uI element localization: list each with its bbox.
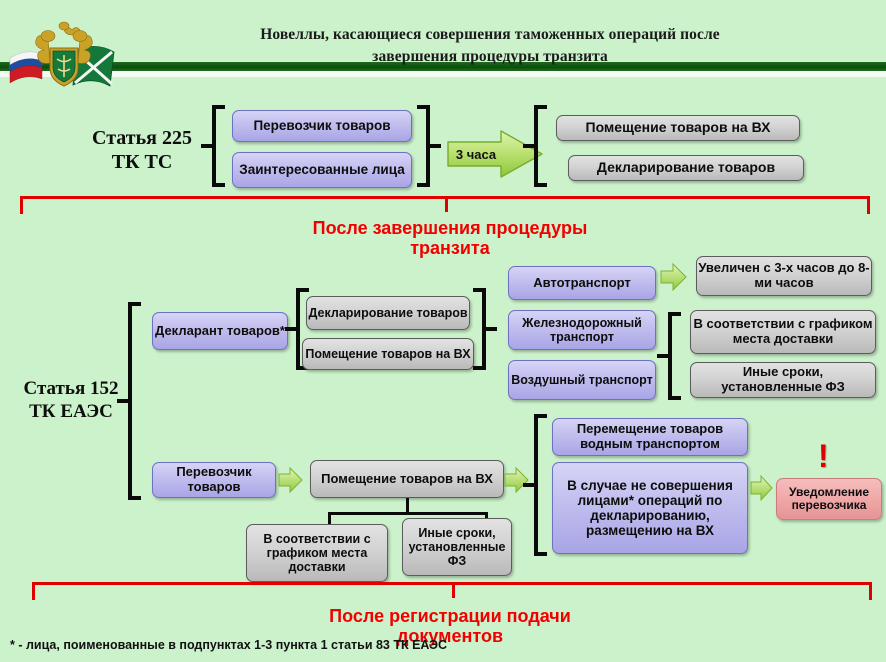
box-label: Иные сроки, установленные ФЗ	[403, 526, 511, 568]
red-caption-line2: транзита	[250, 238, 650, 258]
box-carrier-notification[interactable]: Уведомление перевозчика	[776, 478, 882, 520]
page-title: Новеллы, касающиеся совершения таможенны…	[120, 24, 860, 69]
box-label: Перемещение товаров водным транспортом	[553, 422, 747, 451]
box-air-transport[interactable]: Воздушный транспорт	[508, 360, 656, 400]
arrow-carrier-to-storage	[278, 466, 304, 494]
box-placement-at-temporary-storage-2[interactable]: Помещение товаров на ВХ	[302, 338, 474, 370]
red-bracket-after-transit	[20, 196, 870, 214]
red-bracket-after-registration	[32, 582, 872, 600]
red-caption-line1: После регистрации подачи	[250, 606, 650, 626]
box-label: Иные сроки, установленные ФЗ	[691, 365, 875, 394]
box-label: Декларирование товаров	[597, 160, 775, 176]
box-label: Декларирование товаров	[308, 306, 467, 320]
box-declarant-of-goods[interactable]: Декларант товаров*	[152, 312, 288, 350]
box-rail-transport[interactable]: Железнодорожный транспорт	[508, 310, 656, 350]
box-label: В соответствии с графиком места доставки	[247, 532, 387, 574]
box-label: Увеличен с 3-х часов до 8-ми часов	[697, 261, 871, 290]
arrow-to-notice	[750, 474, 774, 502]
connector-bar	[328, 512, 488, 515]
box-label: Воздушный транспорт	[511, 373, 653, 387]
box-carrier-of-goods-2[interactable]: Перевозчик товаров	[152, 462, 276, 498]
arrow-road-to-result	[660, 262, 688, 292]
russian-customs-emblem-icon	[4, 14, 124, 102]
box-water-transport-movement[interactable]: Перемещение товаров водным транспортом	[552, 418, 748, 456]
exclamation-icon: !	[818, 440, 829, 472]
bracket-article225-right	[528, 105, 550, 187]
box-label: Перевозчик товаров	[253, 118, 390, 133]
bracket-rail-air-results	[662, 312, 682, 400]
box-other-terms-federal-law-1[interactable]: Иные сроки, установленные ФЗ	[690, 362, 876, 398]
bracket-water-transport	[528, 414, 548, 556]
box-label: Автотранспорт	[533, 276, 631, 291]
red-caption-line1: После завершения процедуры	[250, 218, 650, 238]
box-placement-at-temporary-storage-3[interactable]: Помещение товаров на ВХ	[310, 460, 504, 498]
box-interested-persons[interactable]: Заинтересованные лица	[232, 152, 412, 188]
footnote: * - лица, поименованные в подпунктах 1-3…	[10, 638, 447, 652]
article-225-label-line1: Статья 225	[62, 126, 222, 150]
box-non-performance-of-operations[interactable]: В случае не совершения лицами* операций …	[552, 462, 748, 554]
box-label: Заинтересованные лица	[239, 162, 404, 177]
box-delivery-schedule-1[interactable]: В соответствии с графиком места доставки	[690, 310, 876, 354]
box-carrier-of-goods[interactable]: Перевозчик товаров	[232, 110, 412, 142]
red-caption-after-transit: После завершения процедуры транзита	[250, 218, 650, 258]
arrow-storage-to-water	[504, 466, 530, 494]
box-label: В соответствии с графиком места доставки	[691, 317, 875, 346]
bracket-declarant-actions-close	[472, 288, 492, 370]
box-label: Помещение товаров на ВХ	[586, 120, 771, 136]
box-declaration-of-goods-1[interactable]: Декларирование товаров	[568, 155, 804, 181]
bracket-article225-left	[206, 105, 228, 187]
box-label: Перевозчик товаров	[153, 465, 275, 494]
article-225-label-line2: ТК ТС	[62, 150, 222, 174]
page-title-line2: завершения процедуры транзита	[120, 46, 860, 68]
box-road-transport[interactable]: Автотранспорт	[508, 266, 656, 300]
box-label: Помещение товаров на ВХ	[321, 472, 493, 487]
box-label: Железнодорожный транспорт	[509, 316, 655, 344]
box-label: Помещение товаров на ВХ	[305, 347, 470, 361]
article-225-label: Статья 225 ТК ТС	[62, 126, 222, 174]
bracket-article225-left-close	[414, 105, 436, 187]
box-declaration-of-goods-2[interactable]: Декларирование товаров	[306, 296, 470, 330]
bracket-article152-main	[122, 302, 144, 500]
box-other-terms-federal-law-2[interactable]: Иные сроки, установленные ФЗ	[402, 518, 512, 576]
arrow-3-hours-label: 3 часа	[452, 142, 500, 166]
page-title-line1: Новеллы, касающиеся совершения таможенны…	[120, 24, 860, 46]
box-label: Уведомление перевозчика	[777, 486, 881, 513]
box-label: Декларант товаров*	[155, 324, 285, 339]
box-label: В случае не совершения лицами* операций …	[553, 478, 747, 538]
box-placement-at-temporary-storage-1[interactable]: Помещение товаров на ВХ	[556, 115, 800, 141]
box-delivery-schedule-2[interactable]: В соответствии с графиком места доставки	[246, 524, 388, 582]
slide-canvas: Новеллы, касающиеся совершения таможенны…	[0, 0, 886, 662]
box-increased-from-3-to-8-hours[interactable]: Увеличен с 3-х часов до 8-ми часов	[696, 256, 872, 296]
